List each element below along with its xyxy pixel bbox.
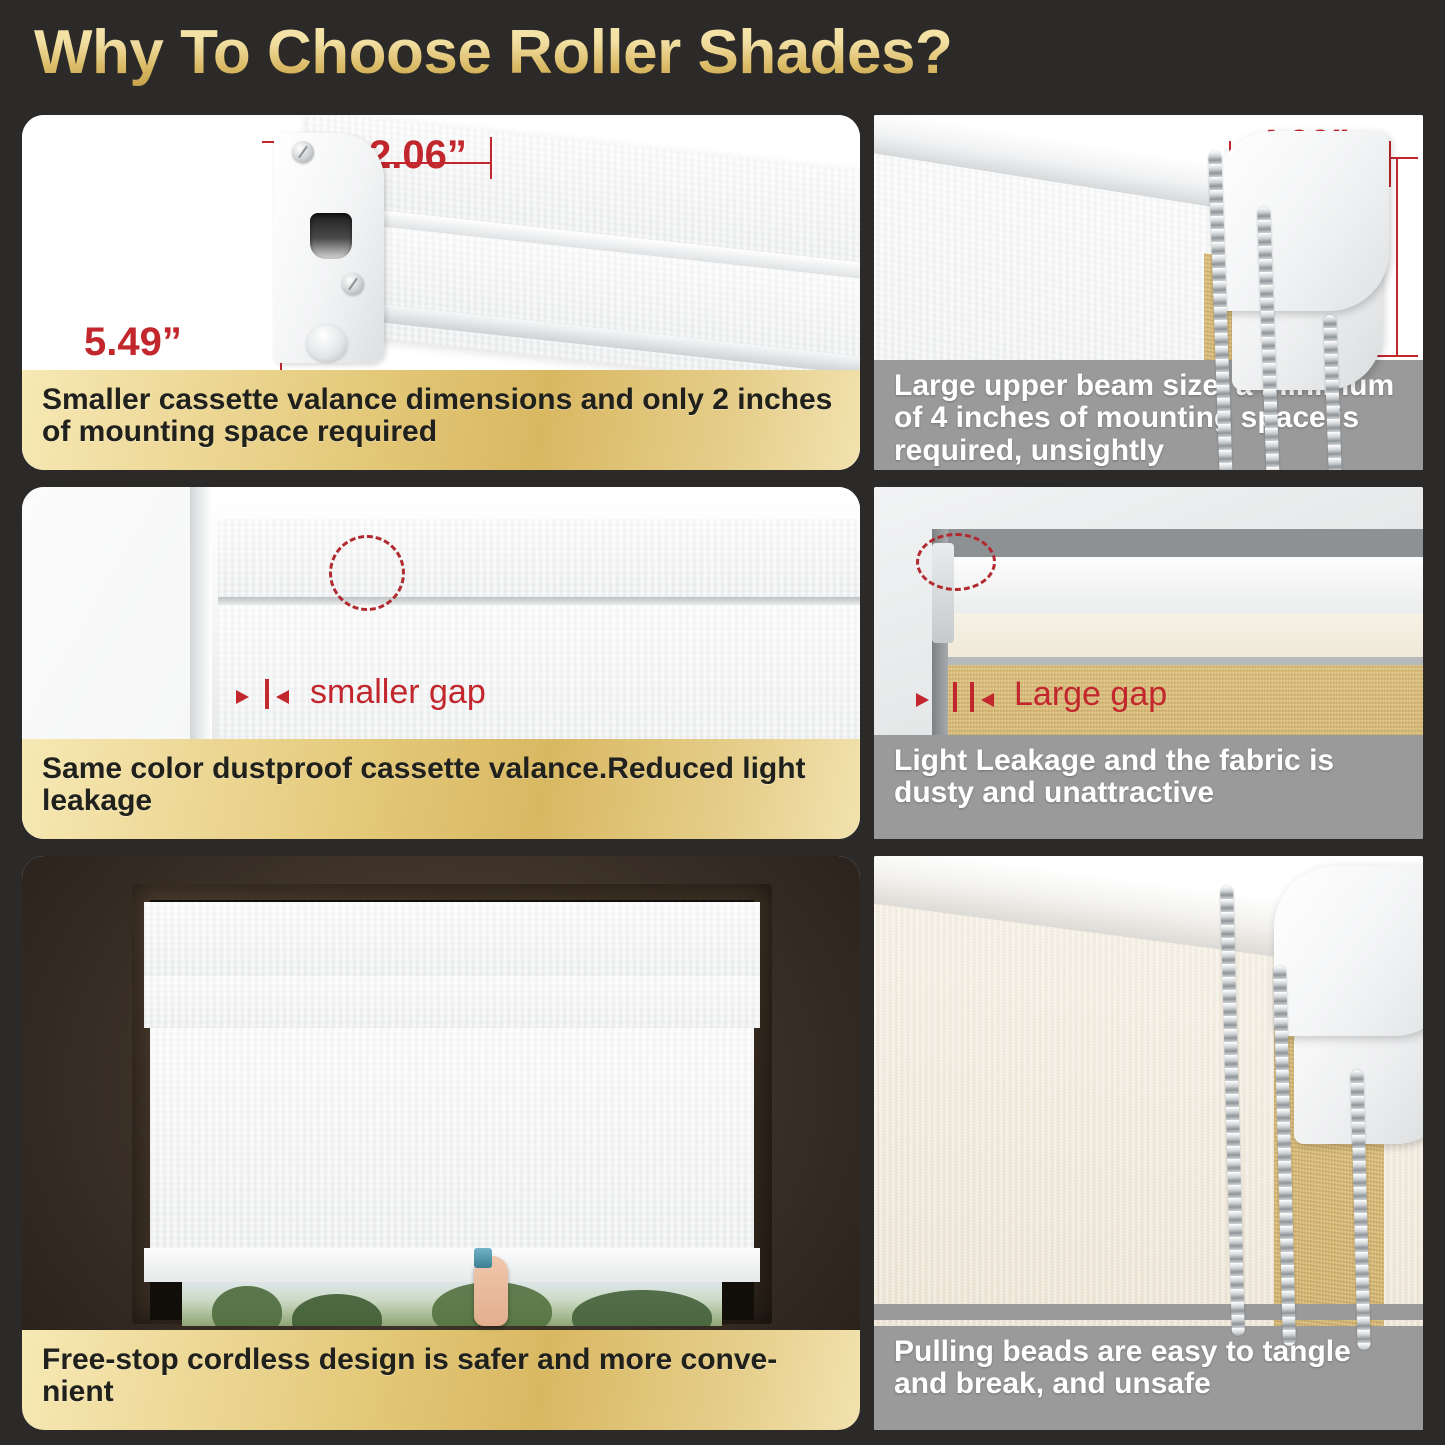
- gap-arrow-right: [981, 693, 994, 707]
- dim-height-line: [1396, 157, 1398, 357]
- pull-tab[interactable]: [474, 1248, 492, 1268]
- upper-beam: [932, 557, 1423, 617]
- gap-arrow-right: [276, 690, 289, 704]
- dim-width-label: 2.06”: [369, 133, 467, 178]
- caption-pro-dustproof-valance: Same color dustproof cassette valance.Re…: [22, 739, 860, 839]
- gap-marker-a: [953, 682, 957, 712]
- infographic-page: Why To Choose Roller Shades?: [0, 0, 1445, 1445]
- roller-bracket-front: [1274, 866, 1423, 1036]
- floor-line: [874, 1304, 1423, 1320]
- caption-con-light-leakage: Light Leakage and the fabric is dusty an…: [874, 735, 1423, 839]
- gap-marker: [265, 679, 269, 709]
- panel-pro-dustproof-valance: smaller gap Same color dustproof cassett…: [22, 487, 860, 839]
- highlight-circle-icon: [916, 533, 996, 591]
- dim-height-tick-bottom: [1374, 355, 1418, 357]
- window-frame-edge: [190, 487, 212, 752]
- cassette-valance: [218, 519, 860, 597]
- caption-pro-cordless-design: Free-stop cordless design is safer and m…: [22, 1330, 860, 1430]
- panel-con-light-leakage: Large gap Light Leakage and the fabric i…: [874, 487, 1423, 839]
- panel-con-pulling-beads: Pulling beads are easy to tangle and bre…: [874, 856, 1423, 1430]
- panel-con-large-upper-beam: 4.00” 4.00” Large upper beam size, a min…: [874, 115, 1423, 470]
- cap-slot: [310, 213, 352, 259]
- roller-bracket-front: [1214, 131, 1389, 311]
- shade-fabric: [150, 1026, 754, 1256]
- cap-screw-top: [292, 141, 314, 163]
- gap-arrow-left: [916, 693, 929, 707]
- cap-knob: [307, 325, 347, 361]
- bottom-rail: [144, 1248, 760, 1282]
- cream-band: [932, 613, 1423, 661]
- caption-con-pulling-beads: Pulling beads are easy to tangle and bre…: [874, 1326, 1423, 1430]
- cap-screw-bottom: [342, 273, 364, 295]
- gap-arrow-left: [236, 690, 249, 704]
- gap-label: smaller gap: [310, 673, 486, 712]
- caption-pro-cassette-dimensions: Smaller cassette valance dimensions and …: [22, 370, 860, 470]
- title-bar: Why To Choose Roller Shades?: [0, 0, 1445, 104]
- valance-lip: [144, 976, 760, 1028]
- cassette-valance: [144, 902, 760, 980]
- gap-label: Large gap: [1014, 675, 1167, 714]
- outdoor-view: [182, 1280, 722, 1326]
- valance-end-cap: [274, 133, 384, 363]
- highlight-circle-icon: [329, 535, 405, 611]
- dim-width-tick-right: [1389, 141, 1391, 187]
- page-title: Why To Choose Roller Shades?: [34, 17, 952, 88]
- panel-pro-cordless-design: Free-stop cordless design is safer and m…: [22, 856, 860, 1430]
- panel-pro-cassette-dimensions: 2.06” 5.49” Smaller cassette valance dim…: [22, 115, 860, 470]
- dim-width-tick-right: [490, 137, 492, 179]
- dim-height-label: 5.49”: [84, 320, 182, 365]
- gap-marker-b: [970, 682, 974, 712]
